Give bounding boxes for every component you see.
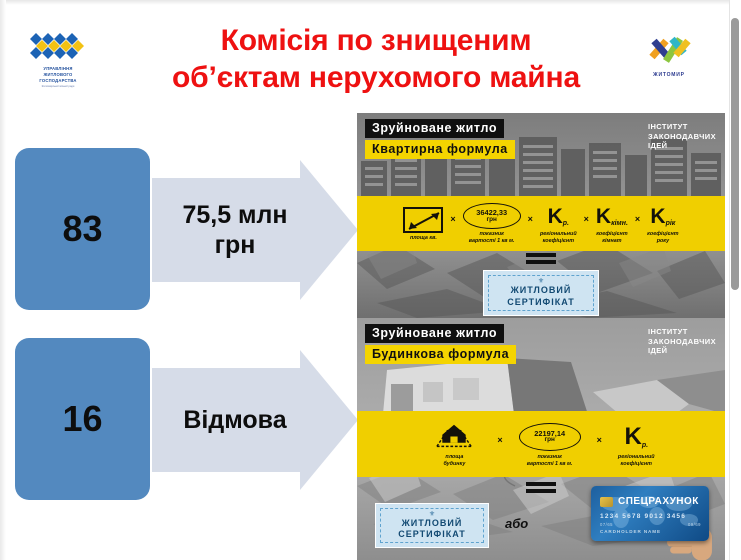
logo-left-line1: УПРАВЛІННЯ xyxy=(43,67,72,71)
card-holder-name: CARDHOLDER NAME xyxy=(600,529,661,534)
formula-item-k-year: Kрік коефіцієнт року xyxy=(647,202,678,245)
formula-item-house-k-region: Kр. регіональний коефіцієнт xyxy=(618,421,655,468)
arrow-head xyxy=(300,160,358,300)
rejected-count-box[interactable]: 16 xyxy=(15,338,150,500)
approved-count-value: 83 xyxy=(15,208,150,250)
formula-times-1: × xyxy=(450,214,455,224)
k-rooms-symbol: Kкімн. xyxy=(596,206,628,227)
house-price-oval: 22197,14 грн xyxy=(519,423,581,451)
house-formula: площа будинку × 22197,14 грн показник ва… xyxy=(357,411,725,477)
approved-amount-arrow[interactable]: 75,5 млн грн xyxy=(152,160,358,300)
tryzub-icon: ⚜ xyxy=(429,511,435,518)
logo-left-line4: Житомирської міської ради xyxy=(42,85,75,88)
certificate-line1: ЖИТЛОВИЙ xyxy=(511,285,572,296)
certificate-line1: ЖИТЛОВИЙ xyxy=(402,518,463,529)
house-k-region-symbol: Kр. xyxy=(624,425,648,449)
house-price-unit: грн xyxy=(544,437,554,444)
k-region-symbol: Kр. xyxy=(548,206,569,227)
housing-department-logo: УПРАВЛІННЯ ЖИТЛОВОГО ГОСПОДАРСТВА Житоми… xyxy=(24,29,92,91)
formula-caption-house-k-region: регіональний коефіцієнт xyxy=(618,454,655,468)
formula-caption-k-region: регіональний коефіцієнт xyxy=(540,231,577,245)
panel2-banner-black: Зруйноване житло xyxy=(365,324,504,343)
infographic-panel-house[interactable]: Зруйноване житло Будинкова формула ІНСТИ… xyxy=(357,318,725,560)
or-label: або xyxy=(505,516,528,531)
card-brand-label: СПЕЦРАХУНОК xyxy=(618,496,699,507)
logo-left-line2: ЖИТЛОВОГО xyxy=(44,73,73,77)
price-unit: грн xyxy=(486,217,496,224)
panel2-equals-sign xyxy=(526,482,556,493)
card-chip-icon xyxy=(600,497,613,507)
vertical-scrollbar-thumb[interactable] xyxy=(731,18,739,290)
panel2-banner-yellow: Будинкова формула xyxy=(365,345,516,364)
house-icon xyxy=(427,423,481,450)
formula-item-k-rooms: Kкімн. коефіцієнт кімнат xyxy=(596,202,628,245)
area-square-icon xyxy=(403,207,443,233)
formula-item-price: 36422,33 грн показник вартості 1 кв м. xyxy=(463,202,521,245)
panel2-formula-strip: площа будинку × 22197,14 грн показник ва… xyxy=(357,411,725,477)
approved-count-box[interactable]: 83 xyxy=(15,148,150,310)
vertical-scrollbar-track[interactable] xyxy=(729,0,741,560)
slide-header: УПРАВЛІННЯ ЖИТЛОВОГО ГОСПОДАРСТВА Житоми… xyxy=(6,5,728,109)
certificate-border: ⚜ ЖИТЛОВИЙ СЕРТИФІКАТ xyxy=(488,275,594,311)
formula-times-3: × xyxy=(584,214,589,224)
card-expiry-row: 07/65 09/69 xyxy=(600,522,701,527)
formula-caption-area: площа кв. xyxy=(410,235,437,242)
page-title-line1: Комісія по знищеним xyxy=(116,23,636,60)
k-sub: р. xyxy=(642,442,648,449)
k-letter: K xyxy=(596,206,611,227)
rejected-status-label: Відмова xyxy=(178,405,292,435)
formula-caption-k-year: коефіцієнт року xyxy=(647,231,678,245)
zhytomyr-logo-label: ЖИТОМИР xyxy=(653,72,685,78)
page-title: Комісія по знищеним об’єктам нерухомого … xyxy=(116,23,636,96)
k-sub: р. xyxy=(563,220,569,227)
rejected-status-arrow[interactable]: Відмова xyxy=(152,350,358,490)
panel1-institute-label: ІНСТИТУТ ЗАКОНОДАВЧИХ ІДЕЙ xyxy=(648,122,716,151)
panel2-banners: Зруйноване житло Будинкова формула xyxy=(365,324,516,364)
formula-item-k-region: Kр. регіональний коефіцієнт xyxy=(540,202,577,245)
slide-canvas: УПРАВЛІННЯ ЖИТЛОВОГО ГОСПОДАРСТВА Житоми… xyxy=(0,0,741,560)
arrow-head xyxy=(300,350,358,490)
zhytomyr-marks-icon xyxy=(646,31,692,71)
apartment-formula: площа кв. × 36422,33 грн показник вартос… xyxy=(357,196,725,251)
infographic-panel-apartment[interactable]: Зруйноване житло Квартирна формула ІНСТИ… xyxy=(357,113,725,318)
stat-row-approved: 83 75,5 млн грн xyxy=(0,140,357,320)
k-letter: K xyxy=(624,425,641,449)
panel1-banner-yellow: Квартирна формула xyxy=(365,140,515,159)
k-year-symbol: Kрік xyxy=(650,206,675,227)
page-title-line2: об’єктам нерухомого майна xyxy=(116,60,636,97)
stat-row-rejected: 16 Відмова xyxy=(0,330,357,510)
certificate-line2: СЕРТИФІКАТ xyxy=(398,529,466,540)
zhytomyr-city-logo: ЖИТОМИР xyxy=(638,31,700,91)
price-oval: 36422,33 грн xyxy=(463,203,521,229)
card-number: 1234 5678 9012 3456 xyxy=(600,513,686,520)
k-letter: K xyxy=(650,206,665,227)
panel1-equals-sign xyxy=(526,253,556,264)
formula-caption-price: показник вартості 1 кв м. xyxy=(469,231,515,245)
formula-item-house-price: 22197,14 грн показник вартості 1 кв м. xyxy=(519,421,581,468)
certificate-border: ⚜ ЖИТЛОВИЙ СЕРТИФІКАТ xyxy=(380,508,484,543)
formula-times-4: × xyxy=(635,214,640,224)
panel1-banners: Зруйноване житло Квартирна формула xyxy=(365,119,515,159)
panel1-formula-strip: площа кв. × 36422,33 грн показник вартос… xyxy=(357,196,725,251)
house-formula-times-2: × xyxy=(597,435,602,445)
approved-amount-label: 75,5 млн грн xyxy=(178,200,292,260)
embroidery-pattern-icon xyxy=(30,29,86,65)
k-letter: K xyxy=(548,206,563,227)
special-account-card: СПЕЦРАХУНОК 1234 5678 9012 3456 07/65 09… xyxy=(591,486,709,541)
card-expiry-right: 09/69 xyxy=(688,522,701,527)
formula-times-2: × xyxy=(528,214,533,224)
formula-item-house-area: площа будинку xyxy=(427,421,481,468)
card-expiry-left: 07/65 xyxy=(600,522,613,527)
panel1-banner-black: Зруйноване житло xyxy=(365,119,504,138)
formula-caption-house-price: показник вартості 1 кв м. xyxy=(527,454,573,468)
k-sub: кімн. xyxy=(611,220,628,227)
formula-caption-house-area: площа будинку xyxy=(443,454,465,468)
logo-left-line3: ГОСПОДАРСТВА xyxy=(39,79,76,83)
panel1-housing-certificate: ⚜ ЖИТЛОВИЙ СЕРТИФІКАТ xyxy=(483,270,599,316)
panel2-housing-certificate: ⚜ ЖИТЛОВИЙ СЕРТИФІКАТ xyxy=(375,503,489,548)
formula-item-area: площа кв. xyxy=(403,206,443,242)
k-sub: рік xyxy=(666,220,676,227)
certificate-line2: СЕРТИФІКАТ xyxy=(507,297,575,308)
house-formula-times-1: × xyxy=(497,435,502,445)
panel2-institute-label: ІНСТИТУТ ЗАКОНОДАВЧИХ ІДЕЙ xyxy=(648,327,716,356)
formula-caption-k-rooms: коефіцієнт кімнат xyxy=(596,231,627,245)
rejected-count-value: 16 xyxy=(15,398,150,440)
